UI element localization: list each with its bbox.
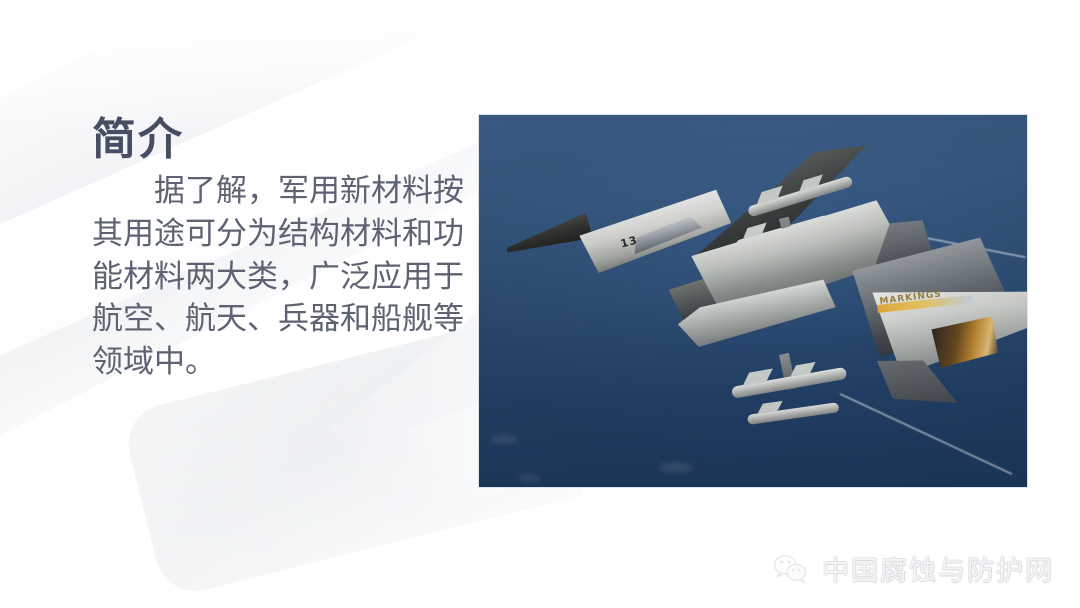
- aircraft-nose-cone: [503, 213, 593, 260]
- slide-title: 简介: [92, 118, 472, 162]
- watermark-text: 中国腐蚀与防护网: [822, 549, 1054, 588]
- presentation-slide: 简介 据了解，军用新材料按其用途可分为结构材料和功能材料两大类，广泛应用于航空、…: [0, 0, 1080, 608]
- aircraft: 13 MARKINGS: [479, 115, 1028, 488]
- slide-body-text: 据了解，军用新材料按其用途可分为结构材料和功能材料两大类，广泛应用于航空、航天、…: [92, 170, 472, 384]
- wechat-icon: [772, 553, 810, 585]
- watermark: 中国腐蚀与防护网: [772, 549, 1054, 588]
- fighter-jet-photo: 13 MARKINGS: [478, 114, 1028, 488]
- text-column: 简介 据了解，军用新材料按其用途可分为结构材料和功能材料两大类，广泛应用于航空、…: [92, 118, 472, 384]
- aircraft-missile: [747, 402, 839, 425]
